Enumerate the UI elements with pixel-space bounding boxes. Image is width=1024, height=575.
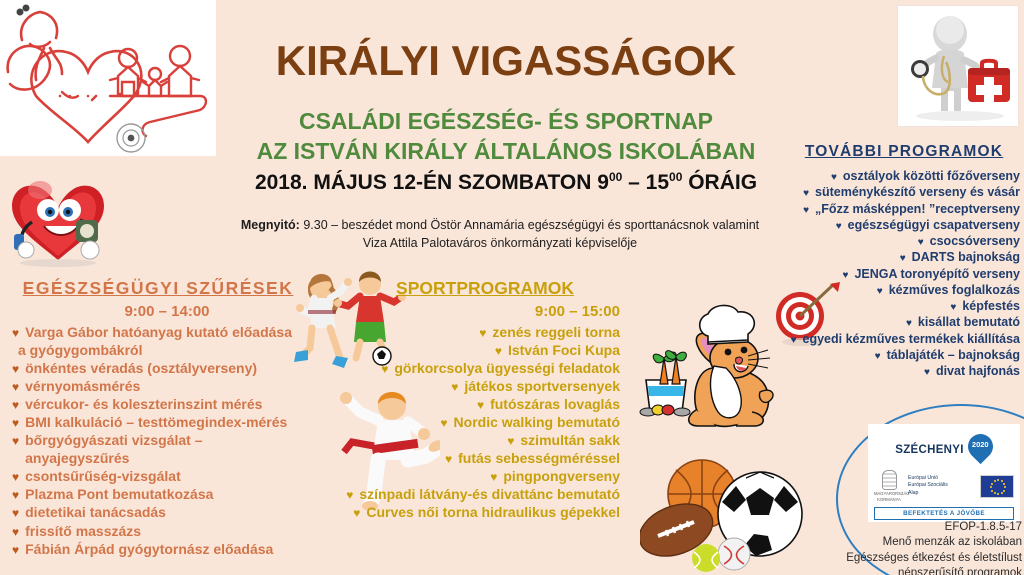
- eu-star: [1003, 490, 1005, 492]
- heart-bullet-icon: ♥: [803, 189, 809, 199]
- list-item-label: Fábián Árpád gyógytornász előadása: [25, 540, 273, 558]
- list-item-label: egészségügyi csapatverseny: [848, 217, 1020, 233]
- list-item-label: kézműves foglalkozás: [889, 282, 1020, 298]
- crest-caption-1: MAGYARORSZÁG: [874, 491, 904, 496]
- page-title: KIRÁLYI VIGASSÁGOK: [236, 40, 776, 82]
- list-item: ♥zenés reggeli torna: [340, 323, 630, 341]
- list-item: ♥egyedi kézműves termékek kiállítása: [784, 331, 1024, 347]
- date-sup-end: 00: [669, 170, 682, 184]
- eu-fund-text: Európai Unió Európai Szociális Alap: [908, 475, 976, 498]
- list-item-label: bőrgyógyászati vizsgálat – anyajegyszűré…: [25, 431, 308, 467]
- list-item: ♥görkorcsolya ügyességi feladatok: [340, 359, 630, 377]
- efop-code: EFOP-1.8.5-17: [842, 520, 1022, 535]
- heart-bullet-icon: ♥: [12, 327, 19, 339]
- list-item-label: a gyógygombákról: [18, 341, 142, 359]
- heart-bullet-icon: ♥: [12, 489, 19, 501]
- list-item-label: színpadi látvány-és divattánc bemutató: [359, 485, 620, 503]
- list-item-label: JENGA toronyépítő verseny: [854, 266, 1020, 282]
- list-item: ♥futószáras lovaglás: [340, 395, 630, 413]
- list-item: ♥Plazma Pont bemutatkozása: [8, 485, 308, 503]
- efop-line-2: Egészséges étkezést és életstílust: [842, 551, 1022, 566]
- list-item: ♥képfestés: [784, 298, 1024, 314]
- list-item-label: dietetikai tanácsadás: [25, 503, 166, 521]
- eu-star: [1001, 492, 1003, 494]
- date-sup-start: 00: [609, 170, 622, 184]
- list-item: ♥csontsűrűség-vizsgálat: [8, 467, 308, 485]
- event-date: 2018. MÁJUS 12-ÉN SZOMBATON 900 – 1500 Ó…: [210, 170, 802, 195]
- list-item: ♥Varga Gábor hatóanyag kutató előadása: [8, 323, 308, 341]
- crest-caption-2: KORMÁNYA: [874, 497, 904, 502]
- heart-bullet-icon: ♥: [12, 417, 19, 429]
- eu-star: [991, 483, 993, 485]
- heart-bullet-icon: ♥: [451, 381, 458, 393]
- efop-line-1: Menő menzák az iskolában: [842, 535, 1022, 550]
- heart-bullet-icon: ♥: [843, 271, 849, 281]
- list-item: ♥süteménykészítő verseny és vásár: [784, 184, 1024, 200]
- sport-time: 9:00 – 15:00: [340, 303, 630, 320]
- list-item-label: frissítő masszázs: [25, 522, 141, 540]
- list-item-label: vércukor- és koleszterinszint mérés: [25, 395, 262, 413]
- list-item-label: „Főzz másképpen! ”receptverseny: [815, 201, 1020, 217]
- medic-first-aid-figure: [897, 5, 1019, 127]
- list-item: ♥bőrgyógyászati vizsgálat – anyajegyszűr…: [8, 431, 308, 467]
- list-item: ♥kézműves foglalkozás: [784, 282, 1024, 298]
- heart-bullet-icon: ♥: [507, 435, 514, 447]
- list-item: ♥egészségügyi csapatverseny: [784, 217, 1024, 233]
- heart-bullet-icon: ♥: [445, 453, 452, 465]
- heart-bullet-icon: ♥: [490, 471, 497, 483]
- list-item-label: Varga Gábor hatóanyag kutató előadása: [25, 323, 292, 341]
- eu-line-3: Alap: [908, 490, 976, 498]
- list-item-label: táblajáték – bajnokság: [887, 347, 1020, 363]
- heart-bullet-icon: ♥: [479, 327, 486, 339]
- heart-bullet-icon: ♥: [836, 222, 842, 232]
- list-item: ♥színpadi látvány-és divattánc bemutató: [340, 485, 630, 503]
- list-item-label: zenés reggeli torna: [492, 323, 620, 341]
- heart-bullet-icon: ♥: [906, 319, 912, 329]
- heart-bullet-icon: ♥: [918, 238, 924, 248]
- szechenyi-pin-icon: 2020: [968, 434, 993, 465]
- list-item-label: csontsűrűség-vizsgálat: [25, 467, 181, 485]
- heart-bullet-icon: ♥: [12, 381, 19, 393]
- opening-note: Megnyitó: 9.30 – beszédet mond Östör Ann…: [200, 216, 800, 252]
- list-item: ♥játékos sportversenyek: [340, 377, 630, 395]
- list-item: ♥divat hajfonás: [784, 363, 1024, 379]
- heart-bullet-icon: ♥: [900, 254, 906, 264]
- list-item: ♥Fábián Árpád gyógytornász előadása: [8, 540, 308, 558]
- eu-star: [1004, 486, 1006, 488]
- heart-bullet-icon: ♥: [381, 363, 388, 375]
- szechenyi-year: 2020: [968, 440, 993, 449]
- list-item-label: görkorcsolya ügyességi feladatok: [394, 359, 620, 377]
- list-item: ♥BMI kalkuláció – testtömegindex-mérés: [8, 413, 308, 431]
- eu-star: [991, 490, 993, 492]
- szechenyi-2020-logo: SZÉCHENYI 2020 MAGYARORSZÁG KORMÁNYA Eur…: [868, 424, 1020, 522]
- list-item: ♥osztályok közötti főzőverseny: [784, 168, 1024, 184]
- subtitle-line-2: AZ ISTVÁN KIRÁLY ÁLTALÁNOS ISKOLÁBAN: [210, 138, 802, 165]
- list-item: ♥csocsóverseny: [784, 233, 1024, 249]
- list-item-label: süteménykészítő verseny és vásár: [815, 184, 1020, 200]
- list-item: ♥vérnyomásmérés: [8, 377, 308, 395]
- list-item-label: Plazma Pont bemutatkozása: [25, 485, 213, 503]
- hungary-crest-icon: MAGYARORSZÁG KORMÁNYA: [874, 470, 904, 503]
- heart-bullet-icon: ♥: [877, 287, 883, 297]
- list-item: ♥vércukor- és koleszterinszint mérés: [8, 395, 308, 413]
- list-item-label: játékos sportversenyek: [464, 377, 620, 395]
- eu-star: [997, 493, 999, 495]
- list-item-label: csocsóverseny: [930, 233, 1020, 249]
- heart-bullet-icon: ♥: [440, 417, 447, 429]
- section-sport-programs: SPORTPROGRAMOK 9:00 – 15:00 ♥zenés regge…: [340, 278, 630, 522]
- eu-flag-icon: [980, 475, 1014, 498]
- eu-star: [994, 480, 996, 482]
- extra-list: ♥osztályok közötti főzőverseny♥süteményk…: [784, 168, 1024, 379]
- list-item: ♥önkéntes véradás (osztályverseny): [8, 359, 308, 377]
- heart-bullet-icon: ♥: [12, 363, 19, 375]
- list-item: ♥kisállat bemutató: [784, 314, 1024, 330]
- heart-bullet-icon: ♥: [495, 345, 502, 357]
- efop-line-3: népszerűsítő programok: [842, 566, 1022, 575]
- opening-line-1: 9.30 – beszédet mond Östör Annamária egé…: [300, 218, 759, 232]
- list-item-label: DARTS bajnokság: [912, 249, 1020, 265]
- heart-bullet-icon: ♥: [950, 303, 956, 313]
- heart-bullet-icon: ♥: [791, 336, 797, 346]
- list-item: a gyógygombákról: [8, 341, 308, 359]
- sport-list: ♥zenés reggeli torna♥István Foci Kupa♥gö…: [340, 323, 630, 522]
- list-item-label: osztályok közötti főzőverseny: [843, 168, 1020, 184]
- date-prefix: 2018. MÁJUS 12-ÉN SZOMBATON 9: [255, 171, 609, 194]
- heart-bullet-icon: ♥: [831, 173, 837, 183]
- eu-star: [997, 479, 999, 481]
- heart-bullet-icon: ♥: [875, 352, 881, 362]
- list-item: ♥Nordic walking bemutató: [340, 413, 630, 431]
- list-item-label: divat hajfonás: [936, 363, 1020, 379]
- eu-star: [1001, 480, 1003, 482]
- list-item-label: egyedi kézműves termékek kiállítása: [803, 331, 1021, 347]
- list-item: ♥Curves női torna hidraulikus gépekkel: [340, 503, 630, 521]
- list-item-label: BMI kalkuláció – testtömegindex-mérés: [25, 413, 287, 431]
- heart-bullet-icon: ♥: [12, 471, 19, 483]
- extra-heading: TOVÁBBI PROGRAMOK: [784, 143, 1024, 161]
- list-item-label: Curves női torna hidraulikus gépekkel: [366, 503, 620, 521]
- list-item-label: képfestés: [962, 298, 1020, 314]
- list-item: ♥DARTS bajnokság: [784, 249, 1024, 265]
- list-item-label: Nordic walking bemutató: [454, 413, 620, 431]
- list-item-label: István Foci Kupa: [508, 341, 620, 359]
- heart-bullet-icon: ♥: [477, 399, 484, 411]
- section-further-programs: TOVÁBBI PROGRAMOK ♥osztályok közötti főz…: [784, 143, 1024, 379]
- sports-balls: [640, 452, 830, 572]
- health-heading: EGÉSZSÉGÜGYI SZŰRÉSEK: [8, 278, 308, 299]
- health-time: 9:00 – 14:00: [8, 303, 308, 320]
- list-item: ♥JENGA toronyépítő verseny: [784, 266, 1024, 282]
- list-item-label: futószáras lovaglás: [490, 395, 620, 413]
- list-item-label: vérnyomásmérés: [25, 377, 140, 395]
- heart-bullet-icon: ♥: [12, 435, 19, 447]
- list-item: ♥„Főzz másképpen! ”receptverseny: [784, 201, 1024, 217]
- szechenyi-wordmark-row: SZÉCHENYI 2020: [868, 424, 1020, 465]
- efop-caption: EFOP-1.8.5-17 Menő menzák az iskolában E…: [842, 520, 1022, 575]
- investing-in-future-ribbon: BEFEKTETÉS A JÖVŐBE: [874, 507, 1014, 520]
- list-item: ♥futás sebességméréssel: [340, 449, 630, 467]
- heart-bullet-icon: ♥: [353, 507, 360, 519]
- heart-bullet-icon: ♥: [12, 399, 19, 411]
- list-item: ♥frissítő masszázs: [8, 522, 308, 540]
- extra-spacer: [784, 161, 1024, 168]
- heart-bullet-icon: ♥: [12, 544, 19, 556]
- list-item: ♥táblajáték – bajnokság: [784, 347, 1024, 363]
- list-item: ♥pingpongverseny: [340, 467, 630, 485]
- cartoon-heart-blood-pressure: [4, 164, 116, 268]
- eu-star: [994, 492, 996, 494]
- date-mid: – 15: [622, 171, 669, 194]
- eu-line-2: Európai Szociális: [908, 482, 976, 490]
- heart-bullet-icon: ♥: [803, 206, 809, 216]
- sport-heading: SPORTPROGRAMOK: [340, 278, 630, 299]
- list-item: ♥szimultán sakk: [340, 431, 630, 449]
- list-item-label: szimultán sakk: [520, 431, 620, 449]
- poster-root: KIRÁLYI VIGASSÁGOK CSALÁDI EGÉSZSÉG- ÉS …: [0, 0, 1024, 575]
- date-suffix: ÓRÁIG: [682, 171, 757, 194]
- szechenyi-word: SZÉCHENYI: [895, 444, 964, 456]
- list-item-label: kisállat bemutató: [918, 314, 1020, 330]
- opening-line-2: Viza Attila Palotaváros önkormányzati ké…: [363, 236, 637, 250]
- heart-family-stethoscope-logo: [0, 0, 216, 156]
- funding-row: MAGYARORSZÁG KORMÁNYA Európai Unió Európ…: [868, 465, 1020, 503]
- heart-bullet-icon: ♥: [12, 526, 19, 538]
- health-list: ♥Varga Gábor hatóanyag kutató előadásaa …: [8, 323, 308, 558]
- section-health-screenings: EGÉSZSÉGÜGYI SZŰRÉSEK 9:00 – 14:00 ♥Varg…: [8, 278, 308, 558]
- heart-bullet-icon: ♥: [924, 368, 930, 378]
- list-item-label: pingpongverseny: [503, 467, 620, 485]
- opening-label: Megnyitó:: [241, 218, 300, 232]
- list-item: ♥István Foci Kupa: [340, 341, 630, 359]
- heart-bullet-icon: ♥: [346, 489, 353, 501]
- eu-star: [1003, 483, 1005, 485]
- list-item-label: önkéntes véradás (osztályverseny): [25, 359, 257, 377]
- subtitle-line-1: CSALÁDI EGÉSZSÉG- ÉS SPORTNAP: [236, 108, 776, 135]
- heart-bullet-icon: ♥: [12, 507, 19, 519]
- list-item-label: futás sebességméréssel: [458, 449, 620, 467]
- eu-star: [990, 486, 992, 488]
- eu-line-1: Európai Unió: [908, 475, 976, 483]
- list-item: ♥dietetikai tanácsadás: [8, 503, 308, 521]
